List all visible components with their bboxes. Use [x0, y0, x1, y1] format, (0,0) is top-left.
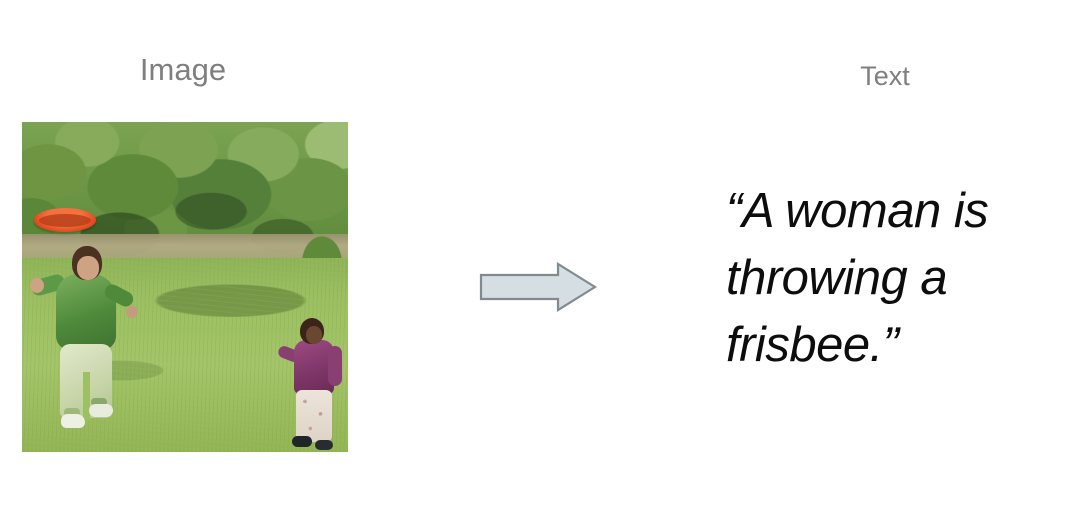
- generated-caption: “A woman is throwing a frisbee.”: [726, 178, 1056, 379]
- photo-woman-right-shoe: [89, 404, 113, 417]
- photo-child-left-shoe: [292, 436, 312, 447]
- source-photo: [22, 122, 348, 452]
- photo-woman-right-hand: [126, 306, 138, 318]
- photo-woman-face: [77, 256, 99, 280]
- caption-line-3: frisbee.”: [726, 312, 1056, 379]
- caption-line-1: “A woman is: [726, 178, 1056, 245]
- photo-frisbee-rim: [39, 214, 91, 227]
- photo-child-right-shoe: [315, 440, 333, 450]
- photo-child-right-arm: [328, 346, 342, 386]
- arrow-shape: [481, 264, 595, 310]
- photo-child-face: [306, 326, 322, 344]
- photo-woman-left-hand: [30, 278, 44, 293]
- right-arrow-icon: [479, 262, 597, 312]
- text-column-heading: Text: [735, 63, 1035, 90]
- image-column-heading: Image: [0, 54, 366, 85]
- photo-child-pants: [296, 390, 332, 442]
- photo-woman-left-shoe: [61, 414, 85, 428]
- caption-line-2: throwing a: [726, 245, 1056, 312]
- right-arrow-glyph: [479, 262, 597, 312]
